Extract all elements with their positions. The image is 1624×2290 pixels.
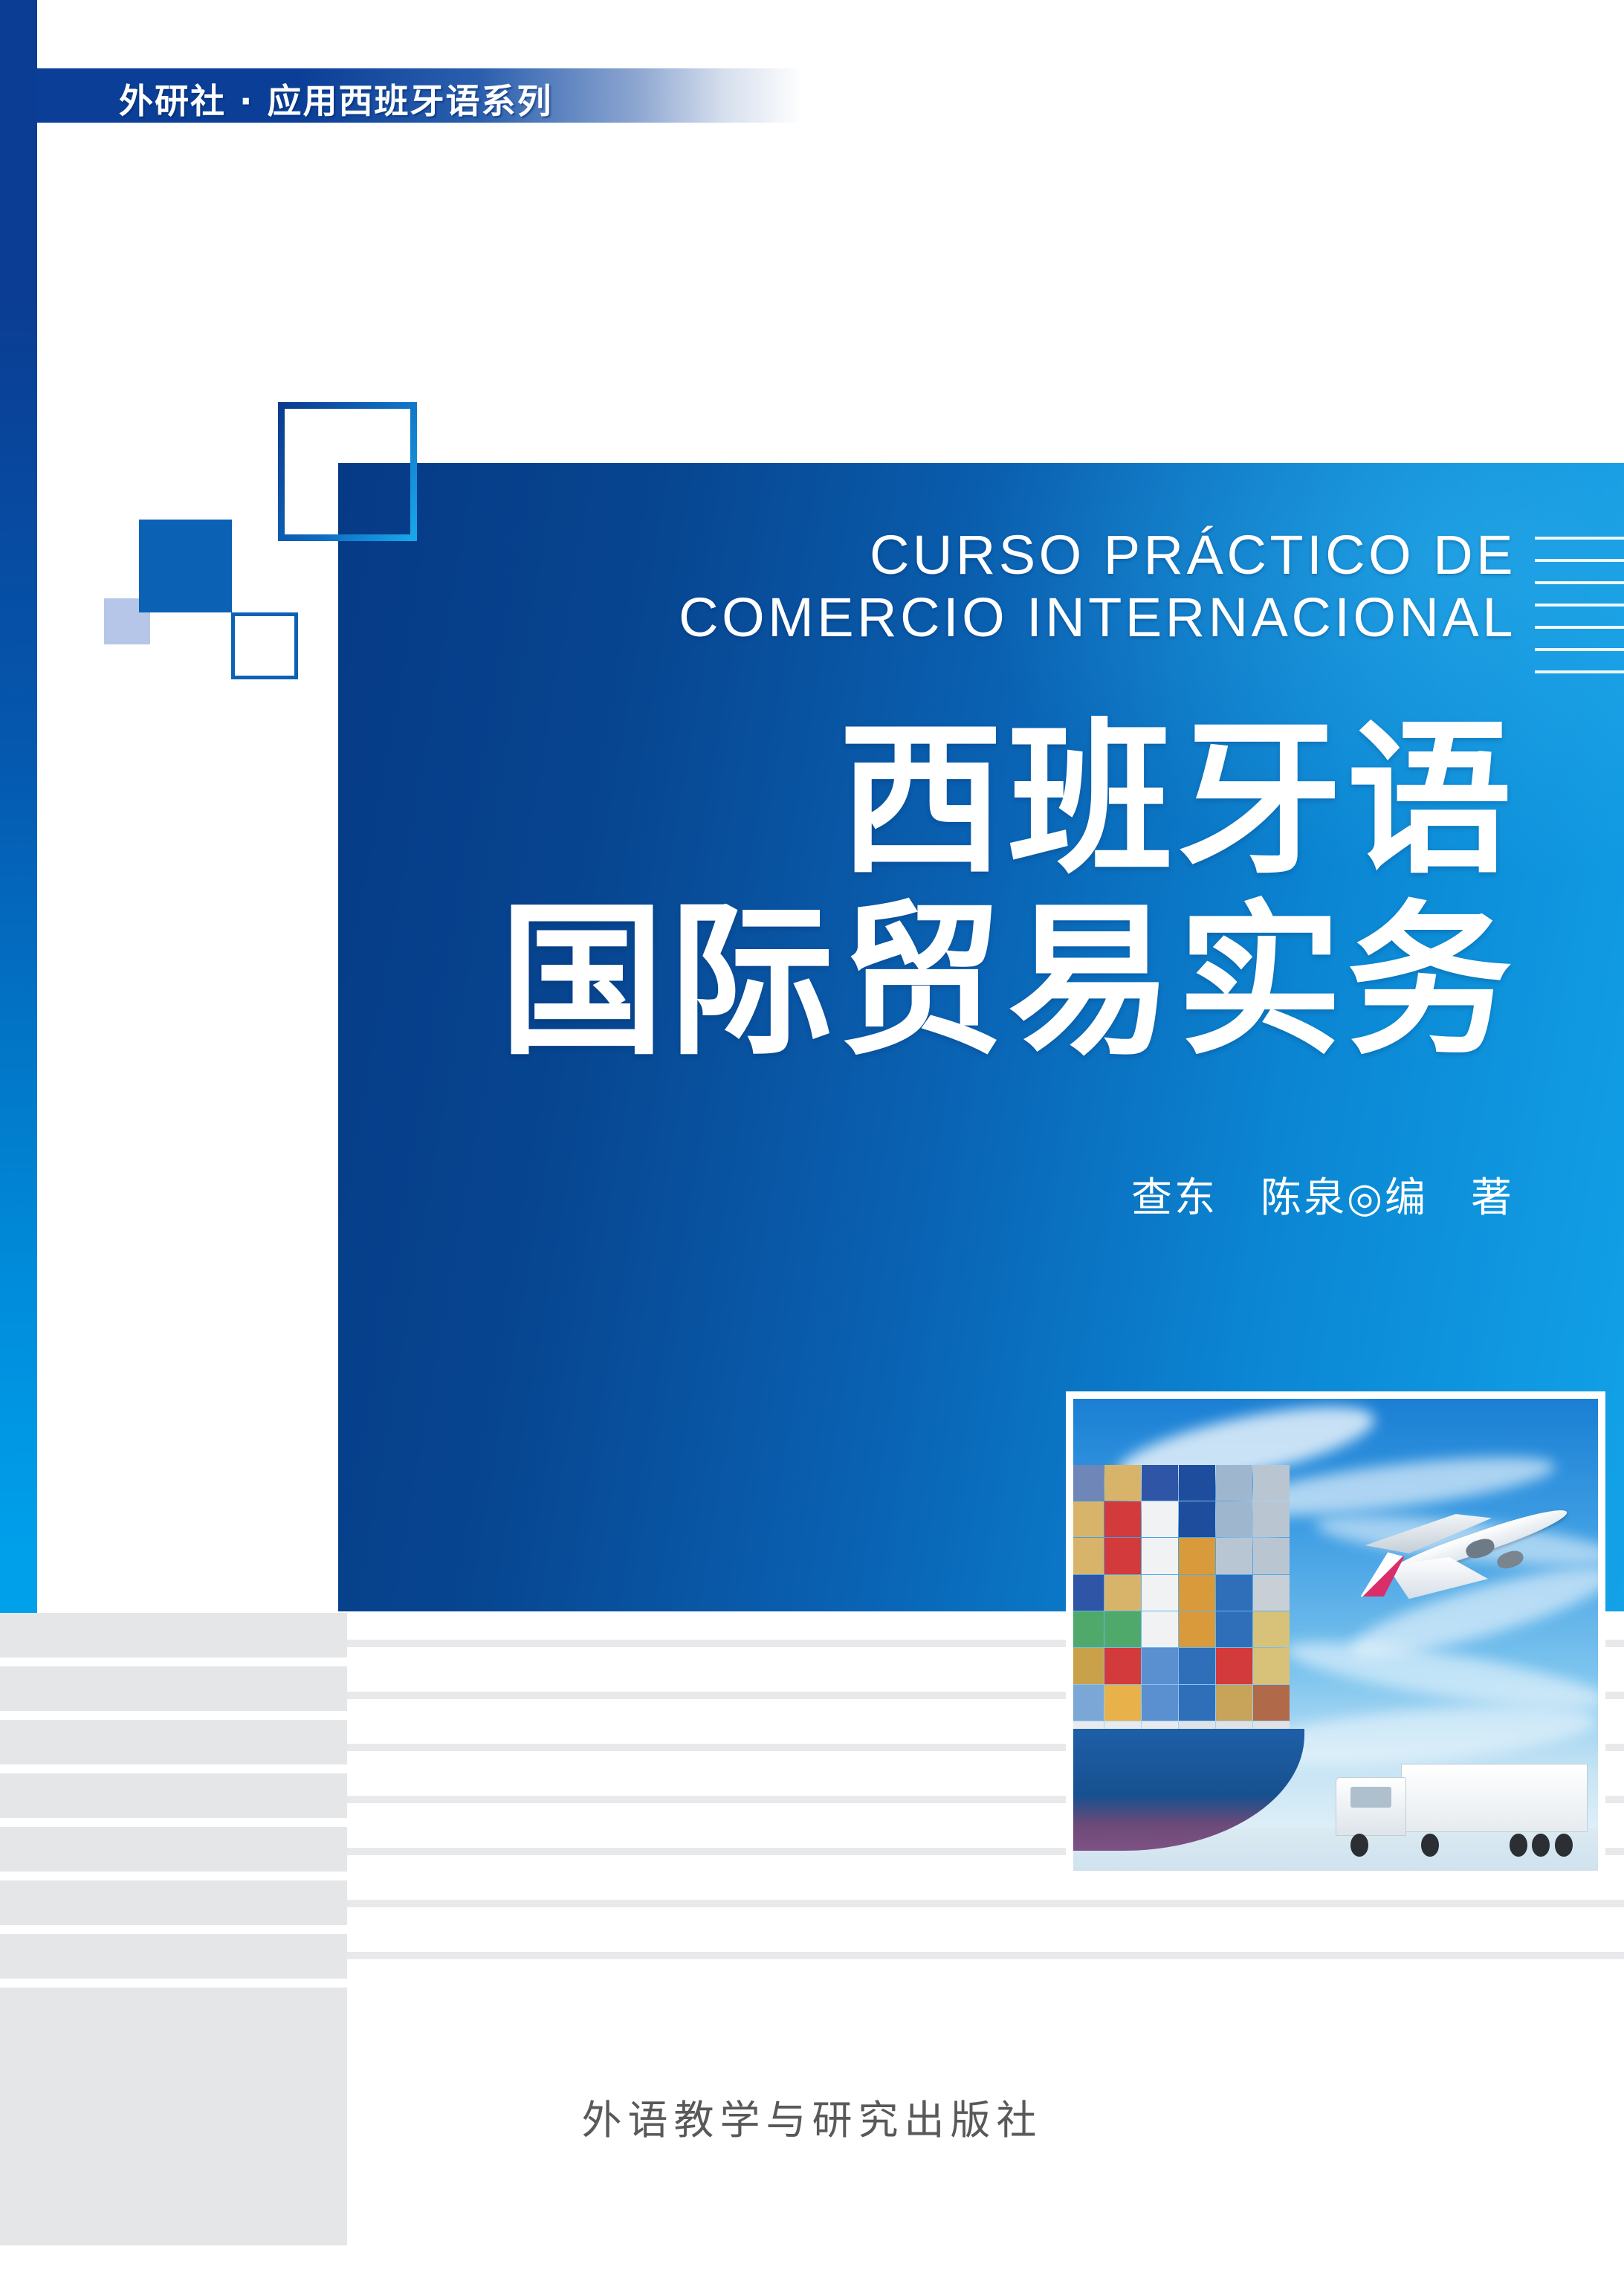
spanish-title: CURSO PRÁCTICO DE COMERCIO INTERNACIONAL xyxy=(253,524,1516,648)
ship-hull xyxy=(1073,1729,1304,1851)
truck-wheel xyxy=(1532,1834,1550,1856)
stripe-band xyxy=(0,1880,347,1925)
author-line: 查东 陈泉◎编 著 xyxy=(1131,1164,1514,1223)
shipping-container xyxy=(1104,1465,1141,1501)
stripe-band xyxy=(0,1872,347,1880)
shipping-container xyxy=(1253,1575,1290,1611)
shipping-container xyxy=(1253,1648,1290,1683)
shipping-container xyxy=(1253,1685,1290,1721)
truck-windshield xyxy=(1350,1787,1391,1808)
truck-wheel xyxy=(1421,1834,1439,1856)
hairline-3 xyxy=(1535,581,1624,584)
stripe-band xyxy=(347,1900,1624,1907)
truck-wheel xyxy=(1350,1834,1368,1856)
truck-wheel xyxy=(1555,1834,1573,1856)
stripe-band xyxy=(0,1657,347,1666)
shipping-container xyxy=(1253,1538,1290,1573)
shipping-container xyxy=(1073,1465,1104,1501)
shipping-container xyxy=(1216,1465,1252,1501)
shipping-container xyxy=(1104,1575,1141,1611)
hairline-4 xyxy=(1535,604,1624,607)
spanish-title-line-2: COMERCIO INTERNACIONAL xyxy=(253,586,1516,649)
hairline-6 xyxy=(1535,648,1624,651)
stripe-band xyxy=(0,1666,347,1711)
shipping-container xyxy=(1179,1611,1215,1647)
chinese-title-line-1: 西班牙语 xyxy=(216,710,1516,891)
stripe-band xyxy=(0,1818,347,1827)
shipping-container xyxy=(1253,1501,1290,1537)
hairline-rules-decoration xyxy=(1535,537,1624,679)
logistics-photo-frame xyxy=(1066,1391,1605,1878)
shipping-container xyxy=(1073,1611,1104,1647)
shipping-container xyxy=(1142,1538,1178,1573)
stripe-band xyxy=(0,1773,347,1818)
shipping-container xyxy=(1179,1575,1215,1611)
stripe-band xyxy=(0,1979,347,1987)
truck-wheel xyxy=(1510,1834,1527,1856)
publisher-name: 外语教学与研究出版社 xyxy=(0,2087,1624,2146)
stripe-band xyxy=(347,1952,1624,1959)
shipping-container xyxy=(1216,1538,1252,1573)
shipping-container xyxy=(1216,1685,1252,1721)
left-spine-bar xyxy=(0,0,37,1613)
shipping-container xyxy=(1216,1501,1252,1537)
shipping-container xyxy=(1142,1575,1178,1611)
shipping-container xyxy=(1073,1501,1104,1537)
truck-trailer xyxy=(1401,1764,1588,1831)
shipping-container xyxy=(1179,1685,1215,1721)
stripe-band xyxy=(0,1925,347,1934)
hairline-7 xyxy=(1535,670,1624,673)
filled-blue-square-icon xyxy=(139,520,232,612)
stripe-band xyxy=(0,1934,347,1979)
bottom-stripes-left xyxy=(0,1613,347,2290)
stripe-band xyxy=(0,1827,347,1872)
shipping-container xyxy=(1142,1611,1178,1647)
shipping-container xyxy=(1179,1501,1215,1537)
shipping-container xyxy=(1216,1611,1252,1647)
shipping-container xyxy=(1104,1648,1141,1683)
shipping-container xyxy=(1073,1538,1104,1573)
spanish-title-line-1: CURSO PRÁCTICO DE xyxy=(870,524,1516,586)
shipping-container xyxy=(1104,1685,1141,1721)
chinese-title: 西班牙语 国际贸易实务 xyxy=(216,710,1516,1073)
chinese-title-line-2: 国际贸易实务 xyxy=(216,891,1516,1073)
hairline-2 xyxy=(1535,559,1624,562)
cargo-truck-icon xyxy=(1336,1762,1588,1857)
series-banner-text: 外研社 · 应用西班牙语系列 xyxy=(119,74,553,123)
large-outlined-square-icon xyxy=(278,402,417,541)
shipping-container xyxy=(1104,1611,1141,1647)
shipping-container xyxy=(1073,1575,1104,1611)
shipping-container xyxy=(1253,1611,1290,1647)
shipping-container xyxy=(1142,1648,1178,1683)
stripe-band xyxy=(0,1613,347,1657)
shipping-container xyxy=(1179,1465,1215,1501)
hairline-5 xyxy=(1535,626,1624,629)
shipping-container xyxy=(1216,1648,1252,1683)
shipping-container xyxy=(1142,1685,1178,1721)
shipping-container xyxy=(1179,1648,1215,1683)
logistics-photo xyxy=(1073,1399,1598,1871)
shipping-container xyxy=(1073,1648,1104,1683)
container-ship-icon xyxy=(1073,1465,1304,1871)
hairline-1 xyxy=(1535,537,1624,540)
shipping-container xyxy=(1073,1685,1104,1721)
container-stack xyxy=(1073,1465,1290,1757)
shipping-container xyxy=(1142,1465,1178,1501)
stripe-band xyxy=(0,1711,347,1720)
plane-engine-2 xyxy=(1495,1549,1524,1572)
shipping-container xyxy=(1216,1575,1252,1611)
shipping-container xyxy=(1253,1465,1290,1501)
stripe-band xyxy=(0,1765,347,1773)
stripe-band xyxy=(347,1907,1624,1952)
shipping-container xyxy=(1142,1501,1178,1537)
shipping-container xyxy=(1104,1538,1141,1573)
left-spine-foot-accent xyxy=(0,1545,37,1613)
book-cover: 外研社 · 应用西班牙语系列 CURSO PRÁCTICO DE COMERCI… xyxy=(0,0,1624,2290)
shipping-container xyxy=(1179,1538,1215,1573)
shipping-container xyxy=(1104,1501,1141,1537)
stripe-band xyxy=(0,1720,347,1765)
airplane-icon xyxy=(1351,1489,1572,1611)
